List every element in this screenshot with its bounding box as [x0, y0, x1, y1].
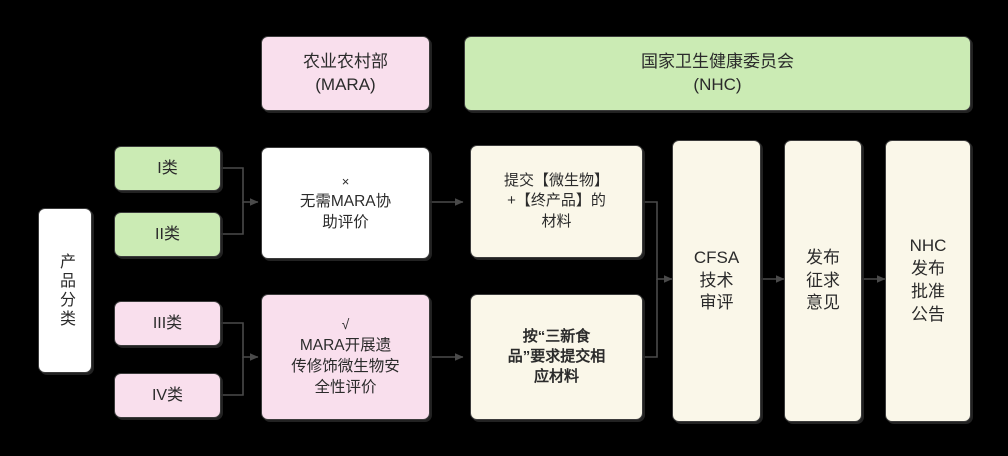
- class-box-2[interactable]: II类: [114, 212, 221, 257]
- header-nhc: 国家卫生健康委员会 (NHC): [464, 36, 971, 111]
- class-box-4[interactable]: IV类: [114, 373, 221, 418]
- edge-class1-to-mara-none: [221, 168, 258, 202]
- mara-step-eval[interactable]: √ MARA开展遗 传修饰微生物安 全性评价: [261, 294, 430, 420]
- nhc-submission-three-new-food[interactable]: 按“三新食 品”要求提交相 应材料: [470, 294, 643, 420]
- class-box-3[interactable]: III类: [114, 301, 221, 346]
- mara-step-eval-label: MARA开展遗 传修饰微生物安 全性评价: [291, 336, 400, 398]
- class-box-1[interactable]: I类: [114, 146, 221, 191]
- mara-step-no-eval[interactable]: × 无需MARA协 助评价: [261, 147, 430, 259]
- edge-class3-to-mara-eval: [221, 323, 258, 357]
- mara-step-no-eval-label: 无需MARA协 助评价: [300, 192, 391, 234]
- nhc-submission-materials[interactable]: 提交【微生物】 +【终产品】的 材料: [470, 145, 643, 258]
- edge-submit1-to-cfsa: [643, 202, 672, 279]
- cross-icon: ×: [342, 173, 350, 190]
- flowchart-canvas: 农业农村部 (MARA) 国家卫生健康委员会 (NHC) 产品分类 I类 II类…: [0, 0, 1008, 456]
- nhc-review-public-comment[interactable]: 发布 征求 意见: [784, 140, 862, 422]
- edge-submit2-to-cfsa: [643, 279, 657, 357]
- product-category-label: 产品分类: [57, 253, 73, 329]
- nhc-review-approval-announcement[interactable]: NHC 发布 批准 公告: [885, 140, 971, 422]
- edge-class4-to-mara-eval: [221, 357, 243, 395]
- header-mara: 农业农村部 (MARA): [261, 36, 430, 111]
- check-icon: √: [342, 315, 350, 334]
- product-category-box: 产品分类: [38, 208, 92, 373]
- edge-class2-to-mara-none: [221, 202, 243, 234]
- nhc-review-cfsa[interactable]: CFSA 技术 审评: [672, 140, 761, 422]
